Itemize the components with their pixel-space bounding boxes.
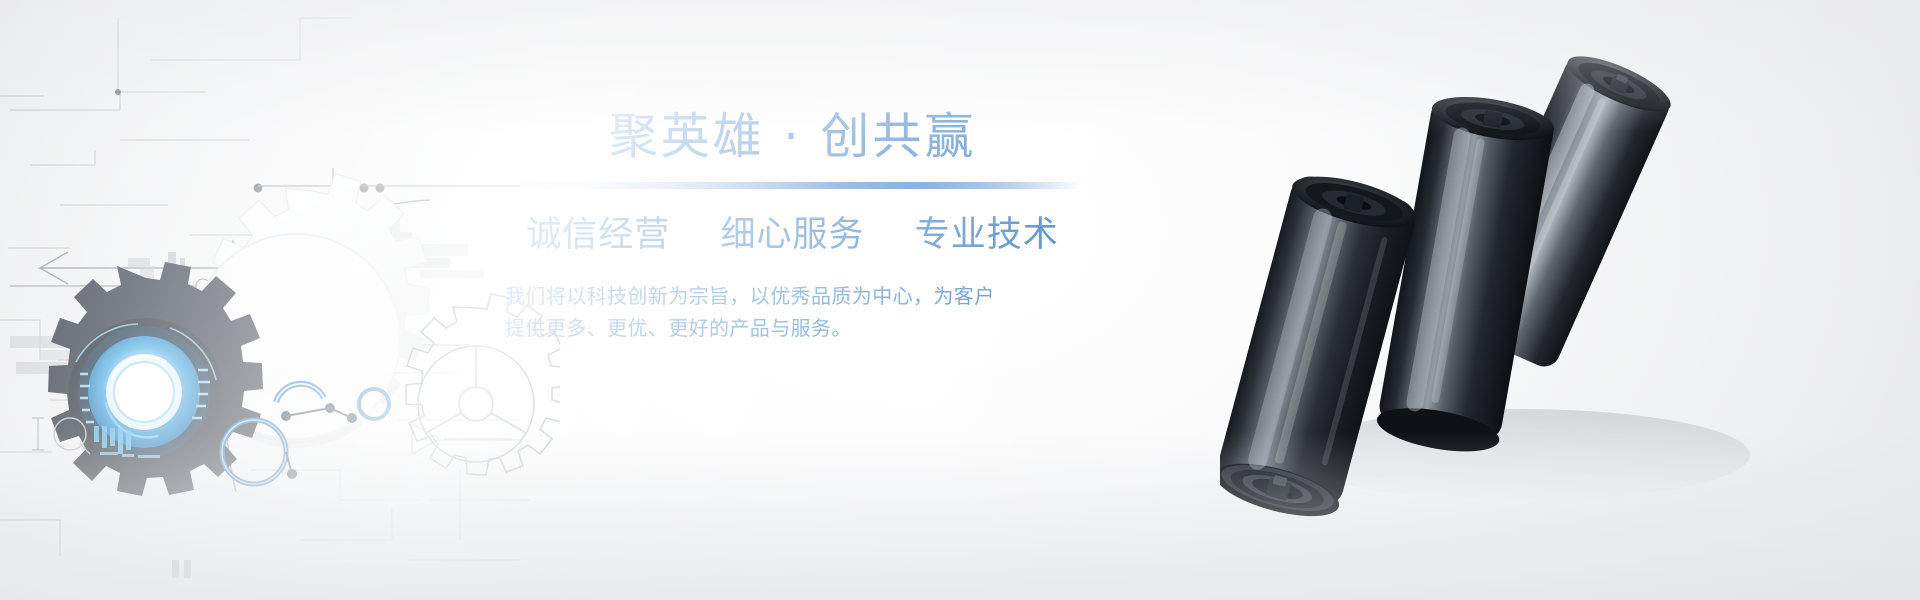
conveyor-rollers-photo: [1220, 0, 1920, 600]
body-line-1: 我们将以科技创新为宗旨，以优秀品质为中心，为客户: [505, 280, 1080, 312]
subhead-item-2: 细心服务: [720, 215, 864, 255]
subhead-item-3: 专业技术: [915, 215, 1059, 255]
gradient-divider: [505, 182, 1080, 189]
subheadline: 诚信经营 细心服务 专业技术: [505, 214, 1080, 258]
chevron-arrows-lower: [412, 424, 512, 454]
pause-bars: [172, 560, 191, 578]
tech-gears-circuit-illustration: [0, 0, 560, 600]
dark-gear-with-blue-hub: [48, 262, 263, 496]
subhead-item-1: 诚信经营: [526, 215, 670, 255]
copy-block: 聚英雄 · 创共赢 诚信经营 细心服务 专业技术 我们将以科技创新为宗旨，以优秀…: [505, 108, 1080, 344]
body-copy: 我们将以科技创新为宗旨，以优秀品质为中心，为客户 提供更多、更优、更好的产品与服…: [505, 280, 1080, 345]
body-line-2: 提供更多、更优、更好的产品与服务。: [505, 312, 1080, 344]
promo-banner: 聚英雄 · 创共赢 诚信经营 细心服务 专业技术 我们将以科技创新为宗旨，以优秀…: [0, 0, 1920, 600]
page-title: 聚英雄 · 创共赢: [505, 108, 1080, 166]
